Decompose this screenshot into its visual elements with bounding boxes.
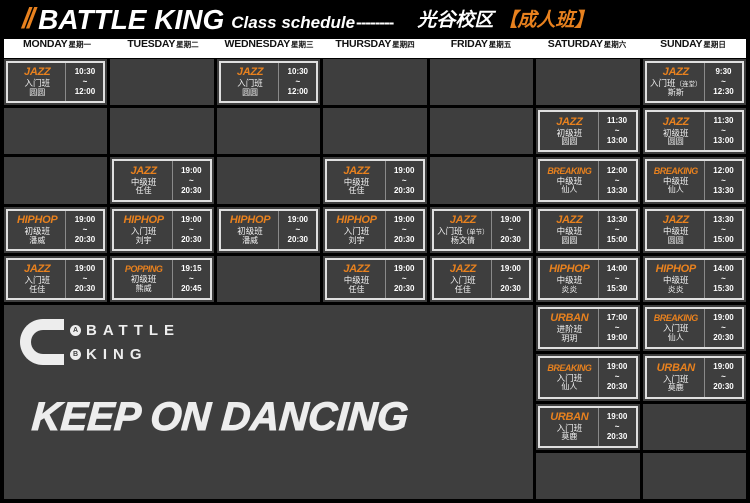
class-style-name: URBAN	[550, 313, 588, 324]
class-time: 13:30~15:00	[598, 211, 636, 249]
class-info: HIPHOP入门班刘宇	[114, 211, 171, 249]
class-teacher: 莫鹿	[561, 433, 577, 441]
class-level: 入门班	[24, 79, 50, 88]
time-separator: ~	[721, 323, 726, 333]
class-end-time: 20:30	[607, 432, 627, 442]
class-end-time: 20:30	[500, 284, 520, 294]
class-card[interactable]: JAZZ中级班圆圆13:30~15:00	[538, 209, 637, 251]
class-start-time: 19:00	[394, 166, 414, 176]
class-level: 中级班	[663, 276, 689, 285]
class-time: 9:30~12:30	[704, 63, 742, 101]
class-info: JAZZ初级班圆圆	[647, 112, 704, 150]
class-info: POPPING初级班熊威	[114, 260, 171, 298]
class-info: HIPHOP中级班炎炎	[540, 260, 597, 298]
time-separator: ~	[721, 225, 726, 235]
class-info: JAZZ入门班圆圆	[8, 63, 65, 101]
class-card[interactable]: POPPING初级班熊威19:15~20:45	[112, 258, 211, 300]
class-style-name: URBAN	[550, 412, 588, 423]
class-start-time: 14:00	[713, 264, 733, 274]
class-start-time: 11:30	[713, 116, 733, 126]
class-teacher: 圆圆	[668, 138, 684, 146]
class-time: 19:00~20:30	[491, 260, 529, 298]
class-card[interactable]: BREAKING中级班仙人12:00~13:30	[645, 159, 744, 201]
class-start-time: 13:30	[607, 215, 627, 225]
time-separator: ~	[615, 323, 620, 333]
class-teacher: 任佳	[136, 187, 152, 195]
class-style-name: BREAKING	[654, 167, 698, 176]
class-card[interactable]: JAZZ入门班任佳19:00~20:30	[6, 258, 105, 300]
class-card[interactable]: HIPHOP中级班炎炎14:00~15:30	[645, 258, 744, 300]
class-card[interactable]: JAZZ入门班（单节）杨文倩19:00~20:30	[432, 209, 531, 251]
class-style-name: JAZZ	[24, 67, 50, 78]
class-time: 11:30~13:00	[704, 112, 742, 150]
time-separator: ~	[615, 225, 620, 235]
class-start-time: 19:00	[607, 412, 627, 422]
class-style-name: JAZZ	[130, 166, 156, 177]
class-teacher: 圆圆	[242, 89, 258, 97]
class-teacher: 潘威	[242, 237, 258, 245]
class-end-time: 13:00	[713, 136, 733, 146]
class-style-name: BREAKING	[547, 364, 591, 373]
schedule-grid: JAZZ入门班圆圆10:30~12:00JAZZ入门班圆圆10:30~12:00…	[4, 59, 746, 499]
time-separator: ~	[615, 274, 620, 284]
class-teacher: 仙人	[668, 334, 684, 342]
class-time: 19:00~20:30	[65, 211, 103, 249]
schedule-slot-friday-3	[430, 157, 533, 203]
class-level: 中级班	[557, 276, 583, 285]
schedule-slot-wednesday-1: JAZZ入门班圆圆10:30~12:00	[217, 59, 320, 105]
class-info: HIPHOP初级班潘威	[8, 211, 65, 249]
schedule-slot-monday-2	[4, 108, 107, 154]
day-header-tuesday: TUESDAY星期二	[110, 39, 216, 58]
class-end-time: 20:30	[181, 186, 201, 196]
schedule-slot-sunday-6: BREAKING入门班仙人19:00~20:30	[643, 305, 746, 351]
poster-header: // BATTLE KING Class schedule -------- 光…	[0, 0, 750, 39]
class-end-time: 20:30	[713, 382, 733, 392]
class-time: 14:00~15:30	[598, 260, 636, 298]
class-style-name: HIPHOP	[230, 215, 270, 226]
time-separator: ~	[508, 274, 513, 284]
class-level: 初级班	[557, 129, 583, 138]
class-end-time: 13:00	[607, 136, 627, 146]
class-card[interactable]: JAZZ入门班任佳19:00~20:30	[432, 258, 531, 300]
class-style-name: JAZZ	[663, 117, 689, 128]
schedule-slot-saturday-9	[536, 453, 639, 499]
class-end-time: 20:30	[75, 284, 95, 294]
class-time: 19:00~20:30	[491, 211, 529, 249]
time-separator: ~	[295, 77, 300, 87]
time-separator: ~	[402, 225, 407, 235]
class-start-time: 19:15	[181, 264, 201, 274]
class-card[interactable]: BREAKING入门班仙人19:00~20:30	[538, 356, 637, 398]
adult-class-badge: 【成人班】	[498, 11, 593, 30]
class-start-time: 10:30	[75, 67, 95, 77]
class-teacher: 熊威	[136, 285, 152, 293]
class-time: 19:00~20:30	[704, 358, 742, 396]
schedule-slot-thursday-4: HIPHOP入门班刘宇19:00~20:30	[323, 207, 426, 253]
time-separator: ~	[721, 77, 726, 87]
class-teacher: 任佳	[455, 286, 471, 294]
class-end-time: 15:30	[607, 284, 627, 294]
time-separator: ~	[402, 176, 407, 186]
class-info: JAZZ入门班（单节）杨文倩	[434, 211, 491, 249]
class-info: HIPHOP初级班潘威	[221, 211, 278, 249]
class-card[interactable]: JAZZ中级班任佳19:00~20:30	[112, 159, 211, 201]
class-level-note: （单节）	[463, 229, 489, 236]
class-style-name: JAZZ	[556, 215, 582, 226]
class-card[interactable]: HIPHOP中级班炎炎14:00~15:30	[538, 258, 637, 300]
class-start-time: 19:00	[500, 264, 520, 274]
schedule-slot-thursday-5: JAZZ中级班任佳19:00~20:30	[323, 256, 426, 302]
class-end-time: 12:30	[713, 87, 733, 97]
time-separator: ~	[189, 176, 194, 186]
schedule-slot-tuesday-5: POPPING初级班熊威19:15~20:45	[110, 256, 213, 302]
class-info: JAZZ入门班任佳	[434, 260, 491, 298]
class-info: URBAN进阶班玥玥	[540, 309, 597, 347]
day-header-friday: FRIDAY星期五	[428, 39, 534, 58]
schedule-poster: // BATTLE KING Class schedule -------- 光…	[0, 0, 750, 503]
time-separator: ~	[83, 77, 88, 87]
schedule-slot-thursday-2	[323, 108, 426, 154]
class-style-name: JAZZ	[24, 264, 50, 275]
class-time: 19:00~20:30	[385, 161, 423, 199]
schedule-slot-tuesday-4: HIPHOP入门班刘宇19:00~20:30	[110, 207, 213, 253]
class-start-time: 12:00	[607, 166, 627, 176]
schedule-slot-saturday-1	[536, 59, 639, 105]
class-info: HIPHOP入门班刘宇	[327, 211, 384, 249]
class-style-name: HIPHOP	[336, 215, 376, 226]
class-start-time: 19:00	[75, 215, 95, 225]
class-level: 入门班	[24, 276, 50, 285]
class-teacher: 任佳	[29, 286, 45, 294]
class-style-name: BREAKING	[654, 314, 698, 323]
class-info: URBAN入门班莫鹿	[540, 408, 597, 446]
class-time: 19:00~20:30	[172, 211, 210, 249]
time-separator: ~	[721, 126, 726, 136]
day-header-sunday: SUNDAY星期日	[640, 39, 746, 58]
class-time: 19:00~20:30	[278, 211, 316, 249]
class-teacher: 炎炎	[668, 286, 684, 294]
time-separator: ~	[615, 176, 620, 186]
slash-accent-icon: //	[22, 5, 32, 34]
day-header-monday: MONDAY星期一	[4, 39, 110, 58]
class-info: BREAKING入门班仙人	[540, 358, 597, 396]
badge-b-icon: B	[70, 349, 81, 360]
time-separator: ~	[402, 274, 407, 284]
schedule-slot-sunday-8	[643, 404, 746, 450]
class-time: 12:00~13:30	[598, 161, 636, 199]
schedule-slot-friday-4: JAZZ入门班（单节）杨文倩19:00~20:30	[430, 207, 533, 253]
class-info: BREAKING中级班仙人	[540, 161, 597, 199]
class-start-time: 10:30	[288, 67, 308, 77]
time-separator: ~	[721, 372, 726, 382]
class-card[interactable]: BREAKING入门班仙人19:00~20:30	[645, 307, 744, 349]
class-level: 入门班	[663, 375, 689, 384]
schedule-slot-tuesday-2	[110, 108, 213, 154]
class-style-name: JAZZ	[663, 67, 689, 78]
class-card[interactable]: HIPHOP初级班潘威19:00~20:30	[6, 209, 105, 251]
class-level: 入门班	[131, 227, 157, 236]
class-teacher: 玥玥	[561, 335, 577, 343]
class-info: JAZZ入门班圆圆	[221, 63, 278, 101]
class-end-time: 13:30	[713, 186, 733, 196]
class-end-time: 12:00	[288, 87, 308, 97]
class-level: 中级班	[557, 227, 583, 236]
class-end-time: 15:00	[607, 235, 627, 245]
schedule-slot-monday-5: JAZZ入门班任佳19:00~20:30	[4, 256, 107, 302]
class-info: JAZZ入门班（连堂）斯斯	[647, 63, 704, 101]
schedule-slot-sunday-3: BREAKING中级班仙人12:00~13:30	[643, 157, 746, 203]
class-end-time: 20:30	[500, 235, 520, 245]
time-separator: ~	[508, 225, 513, 235]
class-start-time: 19:00	[500, 215, 520, 225]
dash-decoration: --------	[356, 13, 393, 33]
schedule-slot-sunday-2: JAZZ初级班圆圆11:30~13:00	[643, 108, 746, 154]
class-card[interactable]: JAZZ初级班圆圆11:30~13:00	[538, 110, 637, 152]
class-teacher: 刘宇	[348, 237, 364, 245]
class-start-time: 19:00	[394, 264, 414, 274]
class-card[interactable]: HIPHOP入门班刘宇19:00~20:30	[112, 209, 211, 251]
schedule-slot-saturday-3: BREAKING中级班仙人12:00~13:30	[536, 157, 639, 203]
class-time: 19:15~20:45	[172, 260, 210, 298]
class-teacher: 刘宇	[136, 237, 152, 245]
time-separator: ~	[615, 372, 620, 382]
schedule-slot-saturday-8: URBAN入门班莫鹿19:00~20:30	[536, 404, 639, 450]
schedule-slot-wednesday-5	[217, 256, 320, 302]
class-end-time: 20:30	[181, 235, 201, 245]
class-info: JAZZ初级班圆圆	[540, 112, 597, 150]
class-card[interactable]: JAZZ初级班圆圆11:30~13:00	[645, 110, 744, 152]
class-time: 11:30~13:00	[598, 112, 636, 150]
class-style-name: BREAKING	[547, 167, 591, 176]
class-card[interactable]: BREAKING中级班仙人12:00~13:30	[538, 159, 637, 201]
class-time: 19:00~20:30	[385, 211, 423, 249]
weekday-header-row: MONDAY星期一 TUESDAY星期二 WEDNESDAY星期三 THURSD…	[4, 39, 746, 58]
class-start-time: 13:30	[713, 215, 733, 225]
class-end-time: 13:30	[607, 186, 627, 196]
class-info: JAZZ中级班任佳	[327, 260, 384, 298]
class-time: 19:00~20:30	[172, 161, 210, 199]
schedule-slot-tuesday-3: JAZZ中级班任佳19:00~20:30	[110, 157, 213, 203]
class-end-time: 20:30	[713, 333, 733, 343]
schedule-slot-sunday-5: HIPHOP中级班炎炎14:00~15:30	[643, 256, 746, 302]
schedule-slot-sunday-4: JAZZ中级班圆圆13:30~15:00	[643, 207, 746, 253]
class-start-time: 12:00	[713, 166, 733, 176]
class-info: JAZZ中级班任佳	[114, 161, 171, 199]
class-start-time: 19:00	[394, 215, 414, 225]
class-end-time: 15:30	[713, 284, 733, 294]
class-time: 17:00~19:00	[598, 309, 636, 347]
class-card[interactable]: JAZZ入门班圆圆10:30~12:00	[219, 61, 318, 103]
time-separator: ~	[189, 274, 194, 284]
logo-wordmark: ABATTLEBKING	[70, 323, 180, 362]
class-start-time: 19:00	[181, 166, 201, 176]
time-separator: ~	[615, 126, 620, 136]
class-level: 入门班	[663, 324, 689, 333]
schedule-slot-monday-1: JAZZ入门班圆圆10:30~12:00	[4, 59, 107, 105]
class-start-time: 9:30	[715, 67, 731, 77]
schedule-slot-wednesday-2	[217, 108, 320, 154]
class-style-name: JAZZ	[343, 264, 369, 275]
class-card[interactable]: JAZZ入门班圆圆10:30~12:00	[6, 61, 105, 103]
class-info: BREAKING入门班仙人	[647, 309, 704, 347]
class-time: 19:00~20:30	[704, 309, 742, 347]
class-start-time: 19:00	[607, 362, 627, 372]
class-card[interactable]: JAZZ中级班任佳19:00~20:30	[325, 258, 424, 300]
logo-line-battle: ABATTLE	[70, 323, 180, 338]
class-style-name: JAZZ	[450, 215, 476, 226]
time-separator: ~	[83, 274, 88, 284]
time-separator: ~	[721, 176, 726, 186]
class-style-name: URBAN	[657, 363, 695, 374]
class-card[interactable]: URBAN入门班莫鹿19:00~20:30	[538, 406, 637, 448]
class-teacher: 杨文倩	[451, 237, 475, 245]
time-separator: ~	[615, 422, 620, 432]
schedule-slot-sunday-1: JAZZ入门班（连堂）斯斯9:30~12:30	[643, 59, 746, 105]
class-level: 初级班	[663, 129, 689, 138]
day-header-thursday: THURSDAY星期四	[322, 39, 428, 58]
class-style-name: HIPHOP	[123, 215, 163, 226]
logo-text-battle: BATTLE	[86, 323, 180, 338]
class-time: 19:00~20:30	[385, 260, 423, 298]
class-info: URBAN入门班莫鹿	[647, 358, 704, 396]
class-end-time: 12:00	[75, 87, 95, 97]
logo-line-king: BKING	[70, 347, 180, 362]
schedule-slot-thursday-3: JAZZ中级班任佳19:00~20:30	[323, 157, 426, 203]
schedule-slot-monday-3	[4, 157, 107, 203]
class-level: 中级班	[663, 227, 689, 236]
class-start-time: 19:00	[75, 264, 95, 274]
class-teacher: 炎炎	[561, 286, 577, 294]
time-separator: ~	[295, 225, 300, 235]
schedule-slot-thursday-1	[323, 59, 426, 105]
class-style-name: HIPHOP	[17, 215, 57, 226]
schedule-slot-friday-2	[430, 108, 533, 154]
class-style-name: POPPING	[125, 265, 163, 274]
class-teacher: 任佳	[348, 286, 364, 294]
class-card[interactable]: URBAN入门班莫鹿19:00~20:30	[645, 356, 744, 398]
class-level: 入门班	[237, 79, 263, 88]
class-start-time: 14:00	[607, 264, 627, 274]
class-teacher: 仙人	[561, 383, 577, 391]
class-time: 14:00~15:30	[704, 260, 742, 298]
class-teacher: 圆圆	[561, 237, 577, 245]
class-card[interactable]: HIPHOP入门班刘宇19:00~20:30	[325, 209, 424, 251]
class-teacher: 仙人	[561, 186, 577, 194]
time-separator: ~	[83, 225, 88, 235]
class-start-time: 19:00	[288, 215, 308, 225]
class-time: 19:00~20:30	[598, 358, 636, 396]
c-monogram-icon	[20, 319, 64, 365]
class-start-time: 17:00	[607, 313, 627, 323]
time-separator: ~	[189, 225, 194, 235]
class-start-time: 19:00	[181, 215, 201, 225]
class-card[interactable]: JAZZ中级班任佳19:00~20:30	[325, 159, 424, 201]
class-end-time: 15:00	[713, 235, 733, 245]
class-card[interactable]: HIPHOP初级班潘威19:00~20:30	[219, 209, 318, 251]
class-end-time: 20:30	[394, 284, 414, 294]
class-info: JAZZ中级班任佳	[327, 161, 384, 199]
class-end-time: 20:30	[394, 186, 414, 196]
schedule-slot-saturday-5: HIPHOP中级班炎炎14:00~15:30	[536, 256, 639, 302]
class-teacher: 圆圆	[668, 237, 684, 245]
class-level: 初级班	[237, 227, 263, 236]
class-info: JAZZ中级班圆圆	[540, 211, 597, 249]
schedule-slot-wednesday-3	[217, 157, 320, 203]
class-card[interactable]: JAZZ中级班圆圆13:30~15:00	[645, 209, 744, 251]
class-level: 中级班	[344, 276, 370, 285]
schedule-slot-friday-5: JAZZ入门班任佳19:00~20:30	[430, 256, 533, 302]
class-card[interactable]: URBAN进阶班玥玥17:00~19:00	[538, 307, 637, 349]
brand-logo-panel: ABATTLEBKINGKEEP ON DANCING	[4, 305, 533, 499]
class-start-time: 19:00	[713, 362, 733, 372]
class-end-time: 20:30	[75, 235, 95, 245]
class-style-name: JAZZ	[450, 264, 476, 275]
class-end-time: 19:00	[607, 333, 627, 343]
day-header-wednesday: WEDNESDAY星期三	[216, 39, 322, 58]
class-time: 13:30~15:00	[704, 211, 742, 249]
class-time: 19:00~20:30	[65, 260, 103, 298]
class-level-note: （连堂）	[676, 81, 702, 88]
class-time: 19:00~20:30	[598, 408, 636, 446]
badge-a-icon: A	[70, 325, 81, 336]
class-teacher: 莫鹿	[668, 384, 684, 392]
class-card[interactable]: JAZZ入门班（连堂）斯斯9:30~12:30	[645, 61, 744, 103]
schedule-slot-saturday-6: URBAN进阶班玥玥17:00~19:00	[536, 305, 639, 351]
class-time: 12:00~13:30	[704, 161, 742, 199]
class-level: 入门班	[557, 374, 583, 383]
schedule-slot-saturday-7: BREAKING入门班仙人19:00~20:30	[536, 354, 639, 400]
class-style-name: JAZZ	[343, 166, 369, 177]
class-teacher: 斯斯	[668, 89, 684, 97]
class-time: 10:30~12:00	[278, 63, 316, 101]
class-start-time: 11:30	[607, 116, 627, 126]
class-start-time: 19:00	[713, 313, 733, 323]
class-teacher: 仙人	[668, 186, 684, 194]
class-style-name: HIPHOP	[656, 264, 696, 275]
schedule-slot-saturday-2: JAZZ初级班圆圆11:30~13:00	[536, 108, 639, 154]
class-style-name: JAZZ	[663, 215, 689, 226]
schedule-slot-friday-1	[430, 59, 533, 105]
class-teacher: 圆圆	[561, 138, 577, 146]
class-teacher: 圆圆	[29, 89, 45, 97]
class-style-name: HIPHOP	[549, 264, 589, 275]
schedule-slot-tuesday-1	[110, 59, 213, 105]
campus-name: 光谷校区	[417, 11, 493, 30]
class-info: JAZZ入门班任佳	[8, 260, 65, 298]
class-end-time: 20:30	[288, 235, 308, 245]
class-level: 初级班	[24, 227, 50, 236]
schedule-slot-monday-4: HIPHOP初级班潘威19:00~20:30	[4, 207, 107, 253]
class-level: 入门班（单节）	[437, 227, 489, 237]
class-style-name: JAZZ	[556, 117, 582, 128]
class-teacher: 潘威	[29, 237, 45, 245]
day-header-saturday: SATURDAY星期六	[534, 39, 640, 58]
class-end-time: 20:30	[394, 235, 414, 245]
class-style-name: JAZZ	[237, 67, 263, 78]
logo-lockup: ABATTLEBKING	[20, 319, 180, 365]
schedule-slot-saturday-4: JAZZ中级班圆圆13:30~15:00	[536, 207, 639, 253]
class-level: 进阶班	[557, 325, 583, 334]
class-time: 10:30~12:00	[65, 63, 103, 101]
tagline-keep-on-dancing: KEEP ON DANCING	[31, 397, 410, 437]
class-level: 入门班（连堂）	[650, 79, 702, 89]
class-info: HIPHOP中级班炎炎	[647, 260, 704, 298]
time-separator: ~	[721, 274, 726, 284]
schedule-slot-sunday-7: URBAN入门班莫鹿19:00~20:30	[643, 354, 746, 400]
class-schedule-label: Class schedule	[231, 14, 355, 31]
class-info: JAZZ中级班圆圆	[647, 211, 704, 249]
